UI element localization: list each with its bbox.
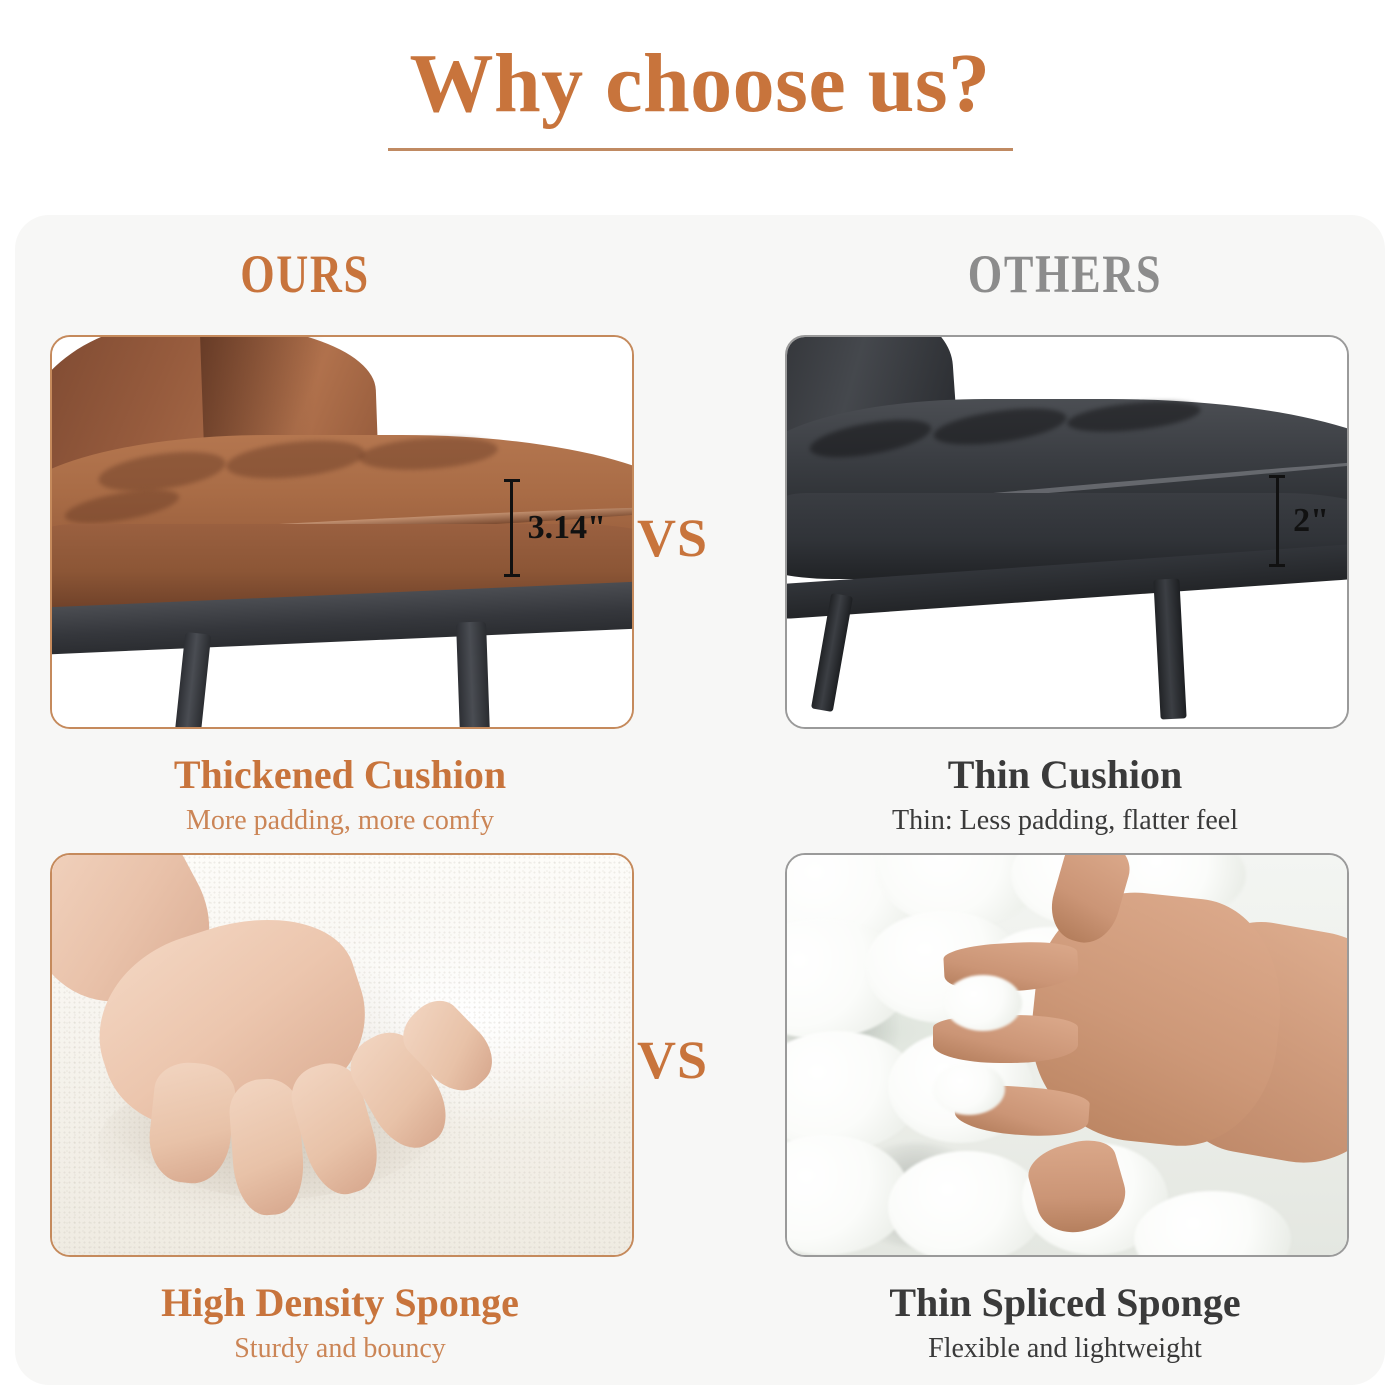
caption-subtitle: Flexible and lightweight [785,1331,1345,1367]
comparison-card: OURS OTHERS [15,215,1385,1385]
thumb-shape [1023,1132,1133,1241]
image-black-chair-seat [787,337,1347,727]
caption-title: Thickened Cushion [50,751,630,799]
dimension-ibeam-icon [1269,475,1285,567]
caption-subtitle: Sturdy and bouncy [50,1331,630,1367]
image-hand-on-fiberfill [787,855,1347,1255]
column-header-others: OTHERS [827,243,1303,305]
photo-frame-thickened-cushion: 3.14" [50,335,634,729]
caption-subtitle: More padding, more comfy [50,803,630,839]
row-cushion-ours: 3.14" Thickened Cushion More padding, mo… [50,335,630,839]
vs-badge-sponge: VS [637,1033,708,1087]
caption-thin-spliced-sponge: Thin Spliced Sponge Flexible and lightwe… [785,1279,1345,1367]
fiberfill-clump [933,1063,1006,1115]
title-underline-rule [388,148,1013,151]
measurement-annotation-others: 2" [1269,475,1329,567]
caption-title: Thin Spliced Sponge [785,1279,1345,1327]
photo-frame-thin-spliced-sponge [785,853,1349,1257]
row-cushion-others: 2" Thin Cushion Thin: Less padding, flat… [785,335,1345,839]
caption-thickened-cushion: Thickened Cushion More padding, more com… [50,751,630,839]
caption-subtitle: Thin: Less padding, flatter feel [785,803,1345,839]
chair-leg [1153,578,1186,720]
caption-high-density-sponge: High Density Sponge Sturdy and bouncy [50,1279,630,1367]
column-headers: OURS OTHERS [15,243,1385,313]
caption-thin-cushion: Thin Cushion Thin: Less padding, flatter… [785,751,1345,839]
photo-frame-high-density-sponge [50,853,634,1257]
row-sponge-ours: High Density Sponge Sturdy and bouncy [50,853,630,1367]
photo-frame-thin-cushion: 2" [785,335,1349,729]
row-sponge-others: Thin Spliced Sponge Flexible and lightwe… [785,853,1345,1367]
hand-shape [52,855,632,1255]
caption-title: Thin Cushion [785,751,1345,799]
measurement-annotation-ours: 3.14" [504,479,606,577]
hand-shape [787,855,1347,1255]
comparison-row-sponge: High Density Sponge Sturdy and bouncy [15,853,1385,1373]
page-header: Why choose us? [0,36,1400,151]
measurement-value: 2" [1293,504,1329,538]
vs-badge-cushion: VS [637,511,708,565]
dimension-ibeam-icon [504,479,520,577]
caption-title: High Density Sponge [50,1279,630,1327]
image-hand-on-foam [52,855,632,1255]
page-title: Why choose us? [0,36,1400,132]
comparison-row-cushion: 3.14" Thickened Cushion More padding, mo… [15,335,1385,835]
measurement-value: 3.14" [528,511,606,545]
chair-leg [456,621,490,727]
fiberfill-clump [944,975,1022,1031]
column-header-ours: OURS [67,243,543,305]
